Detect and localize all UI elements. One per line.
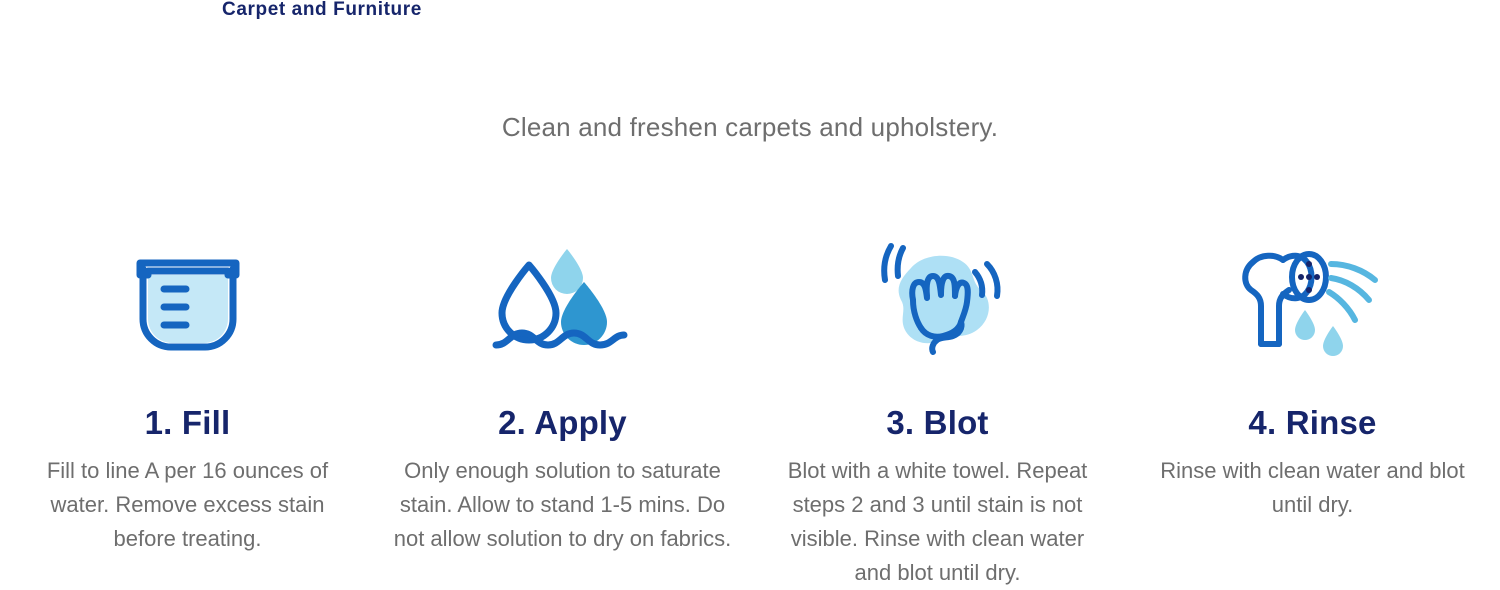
step-card-rinse: 4. Rinse Rinse with clean water and blot…	[1125, 240, 1500, 522]
step-body: Rinse with clean water and blot until dr…	[1148, 454, 1478, 522]
step-heading: 4. Rinse	[1248, 404, 1376, 442]
step-body: Fill to line A per 16 ounces of water. R…	[33, 454, 343, 556]
step-card-fill: 1. Fill Fill to line A per 16 ounces of …	[0, 240, 375, 556]
shower-head-icon	[1235, 240, 1390, 360]
step-heading: 3. Blot	[886, 404, 988, 442]
step-heading: 2. Apply	[498, 404, 627, 442]
page-subtitle: Clean and freshen carpets and upholstery…	[0, 112, 1500, 143]
section-title: Carpet and Furniture	[222, 0, 422, 24]
instruction-panel: Carpet and Furniture Clean and freshen c…	[0, 0, 1500, 586]
step-card-blot: 3. Blot Blot with a white towel. Repeat …	[750, 240, 1125, 590]
blotting-hand-icon	[863, 240, 1013, 360]
step-heading: 1. Fill	[145, 404, 231, 442]
water-droplets-icon	[488, 240, 638, 360]
step-body: Blot with a white towel. Repeat steps 2 …	[773, 454, 1103, 590]
measuring-cup-icon	[118, 240, 258, 360]
step-card-apply: 2. Apply Only enough solution to saturat…	[375, 240, 750, 556]
steps-row: 1. Fill Fill to line A per 16 ounces of …	[0, 240, 1500, 590]
step-body: Only enough solution to saturate stain. …	[393, 454, 733, 556]
